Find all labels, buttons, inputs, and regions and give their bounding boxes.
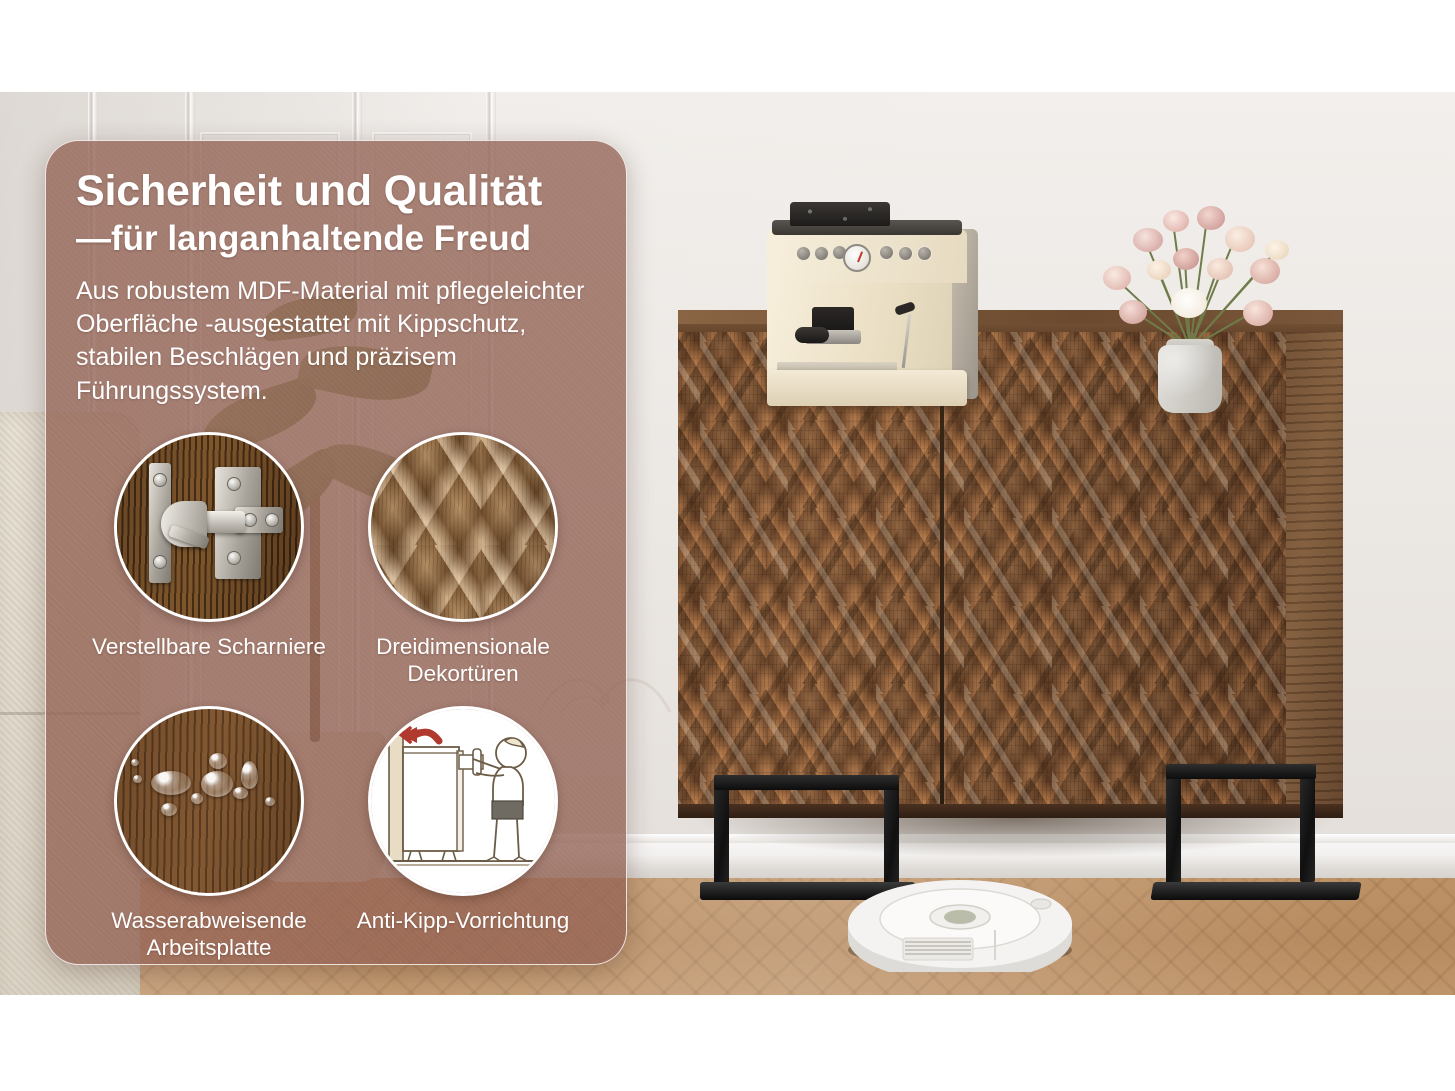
water-droplet xyxy=(133,775,142,783)
water-droplet xyxy=(131,759,139,766)
sideboard-shadow xyxy=(690,818,1340,858)
flower-bloom xyxy=(1225,226,1255,252)
feature-caption: Wasserabweisende Arbeitsplatte xyxy=(111,907,307,962)
feature-water-resistant-top: Wasserabweisende Arbeitsplatte xyxy=(82,706,336,962)
espresso-machine-bean-hopper xyxy=(790,202,890,226)
flower-bloom xyxy=(1250,258,1280,284)
water-droplet xyxy=(201,771,233,797)
espresso-machine-knob xyxy=(898,246,913,261)
sideboard-leg xyxy=(1300,764,1315,882)
water-droplet xyxy=(191,793,203,804)
water-droplet xyxy=(233,787,248,799)
flower-bloom xyxy=(1103,266,1131,290)
feature-caption: Verstellbare Scharniere xyxy=(92,633,326,660)
flower-bloom xyxy=(1243,300,1273,326)
flower-vase xyxy=(1158,345,1222,413)
sideboard-bottom-edge xyxy=(678,804,1343,818)
hinge-screw xyxy=(153,473,167,487)
water-droplets-icon xyxy=(114,706,304,896)
flower-bouquet xyxy=(1085,200,1300,350)
sideboard-leg xyxy=(1166,775,1181,893)
faceted-door-texture-icon xyxy=(368,432,558,622)
feature-caption: Dreidimensionale Dekortüren xyxy=(376,633,550,688)
hinge-adjust-screw xyxy=(265,513,279,527)
flower-bloom xyxy=(1265,240,1289,260)
espresso-machine-knob xyxy=(814,246,829,261)
panel-subtitle: —für langanhaltende Freud xyxy=(76,219,596,259)
espresso-machine-portafilter-handle xyxy=(795,327,829,343)
feature-caption: Anti-Kipp-Vorrichtung xyxy=(357,907,570,934)
robot-vacuum xyxy=(845,862,1075,972)
espresso-machine-knob xyxy=(917,246,932,261)
espresso-machine-knob xyxy=(796,246,811,261)
anti-tip-diagram xyxy=(371,709,558,896)
faceted-texture xyxy=(371,435,555,619)
flower-bloom xyxy=(1207,258,1233,280)
hinge-screw xyxy=(153,555,167,569)
sideboard-leg xyxy=(714,775,729,893)
water-droplet xyxy=(161,803,177,816)
sideboard-leg-rail xyxy=(1166,764,1316,779)
sideboard-leg-rail xyxy=(714,775,899,790)
hinge-screw xyxy=(227,477,241,491)
water-droplet xyxy=(241,761,258,789)
hinge-adjust-screw xyxy=(243,513,257,527)
feature-grid: Verstellbare Scharniere Dreidimensionale… xyxy=(76,432,596,962)
hinge-photo-icon xyxy=(114,432,304,622)
panel-title: Sicherheit und Qualität xyxy=(76,169,596,215)
flower-bloom xyxy=(1133,228,1163,252)
flower-bloom xyxy=(1173,248,1199,270)
product-marketing-image: Sicherheit und Qualität —für langanhalte… xyxy=(0,0,1455,1091)
sideboard-leg-foot xyxy=(1150,882,1361,900)
water-droplet xyxy=(151,771,191,795)
feature-adjustable-hinges: Verstellbare Scharniere xyxy=(82,432,336,688)
feature-anti-tip-device: Anti-Kipp-Vorrichtung xyxy=(336,706,590,962)
espresso-machine-knob xyxy=(879,245,894,260)
espresso-machine-pressure-gauge xyxy=(843,244,871,272)
flower-bloom xyxy=(1147,260,1171,280)
flower-bloom xyxy=(1163,210,1189,232)
panel-body-text: Aus robustem MDF-Material mit pflegeleic… xyxy=(76,275,596,408)
feature-3d-decor-doors: Dreidimensionale Dekortüren xyxy=(336,432,590,688)
sideboard-side-grain xyxy=(1286,332,1343,810)
water-droplet xyxy=(209,753,227,769)
espresso-machine-base xyxy=(767,370,967,406)
flower-bloom xyxy=(1171,288,1207,318)
flower-bloom xyxy=(1197,206,1225,230)
anti-tip-illustration-icon xyxy=(368,706,558,896)
flower-bloom xyxy=(1119,300,1147,324)
hinge-screw xyxy=(227,551,241,565)
water-droplet xyxy=(265,797,275,806)
info-panel: Sicherheit und Qualität —für langanhalte… xyxy=(45,140,627,965)
